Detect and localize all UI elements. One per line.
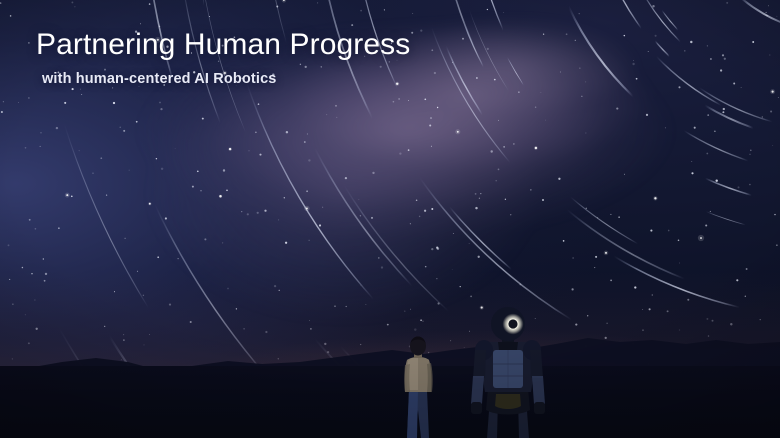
scene-container: Partnering Human Progress with human-cen… [0,0,780,438]
title-block: Partnering Human Progress with human-cen… [36,28,410,87]
page-title: Partnering Human Progress [36,28,410,62]
page-subtitle: with human-centered AI Robotics [42,71,410,87]
